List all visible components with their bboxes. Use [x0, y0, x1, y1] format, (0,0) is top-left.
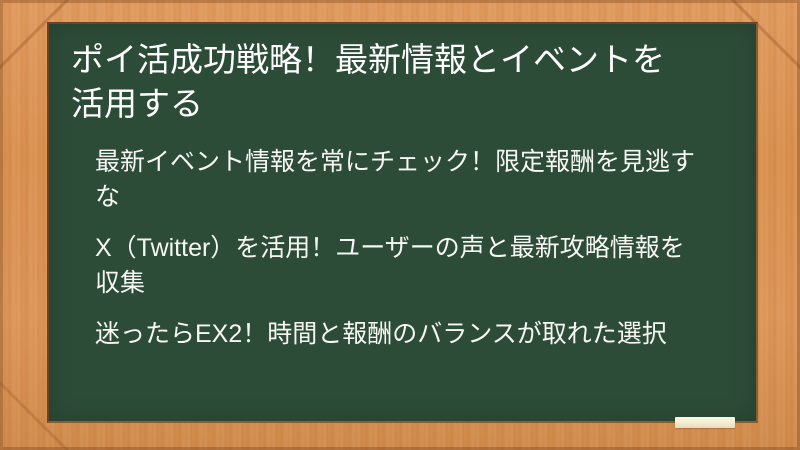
chalk-stick-icon: [675, 417, 735, 428]
list-item: X（Twitter）を活用！ユーザーの声と最新攻略情報を収集: [95, 231, 706, 301]
board-bullet-list: 最新イベント情報を常にチェック！限定報酬を見逃すな X（Twitter）を活用！…: [71, 145, 736, 352]
chalkboard-surface: ポイ活成功戦略！最新情報とイベントを活用する 最新イベント情報を常にチェック！限…: [47, 22, 758, 423]
chalkboard-content: ポイ活成功戦略！最新情報とイベントを活用する 最新イベント情報を常にチェック！限…: [49, 24, 756, 421]
list-item: 最新イベント情報を常にチェック！限定報酬を見逃すな: [95, 145, 706, 215]
board-title: ポイ活成功戦略！最新情報とイベントを活用する: [71, 30, 736, 126]
chalkboard-wooden-frame: ポイ活成功戦略！最新情報とイベントを活用する 最新イベント情報を常にチェック！限…: [0, 0, 800, 450]
list-item: 迷ったらEX2！時間と報酬のバランスが取れた選択: [95, 317, 706, 352]
